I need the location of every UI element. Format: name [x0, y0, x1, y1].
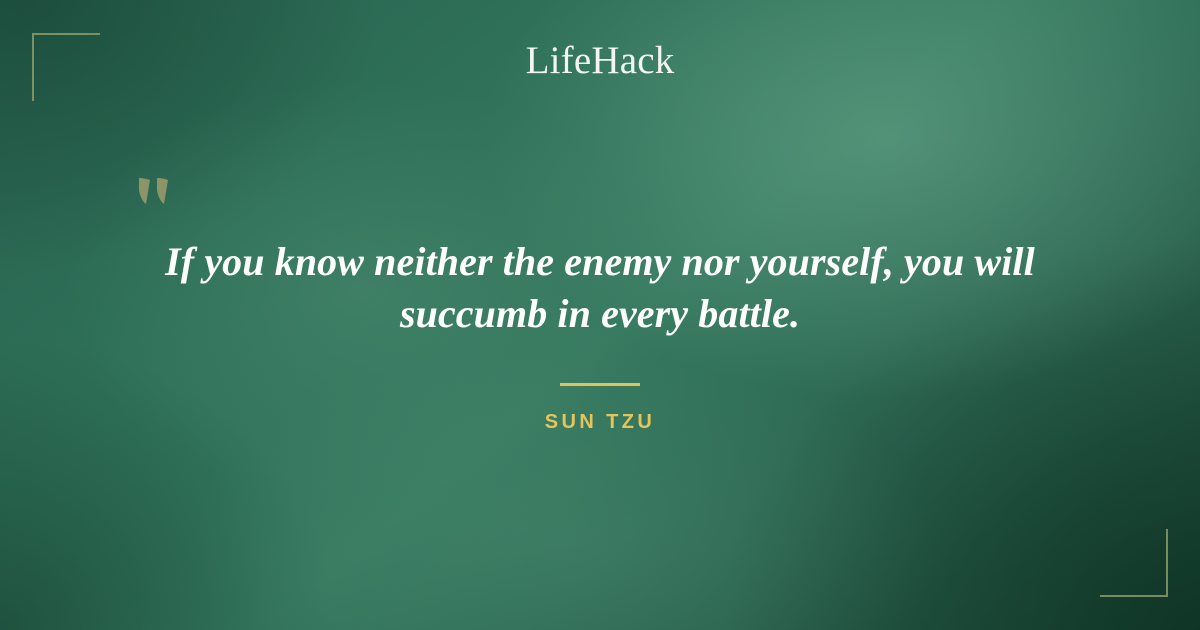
quote-card: LifeHack If you know neither the enemy n…	[0, 0, 1200, 630]
quotation-mark-icon	[133, 152, 193, 212]
brand-logo: LifeHack	[0, 38, 1200, 83]
quote-line-2: succumb in every battle.	[0, 288, 1200, 340]
quote-author: SUN TZU	[0, 411, 1200, 434]
corner-bracket-bottom-right-icon	[1100, 529, 1168, 597]
divider-container	[0, 383, 1200, 386]
gold-divider	[560, 383, 640, 386]
quote-line-1: If you know neither the enemy nor yourse…	[0, 236, 1200, 288]
quote-text: If you know neither the enemy nor yourse…	[0, 236, 1200, 340]
